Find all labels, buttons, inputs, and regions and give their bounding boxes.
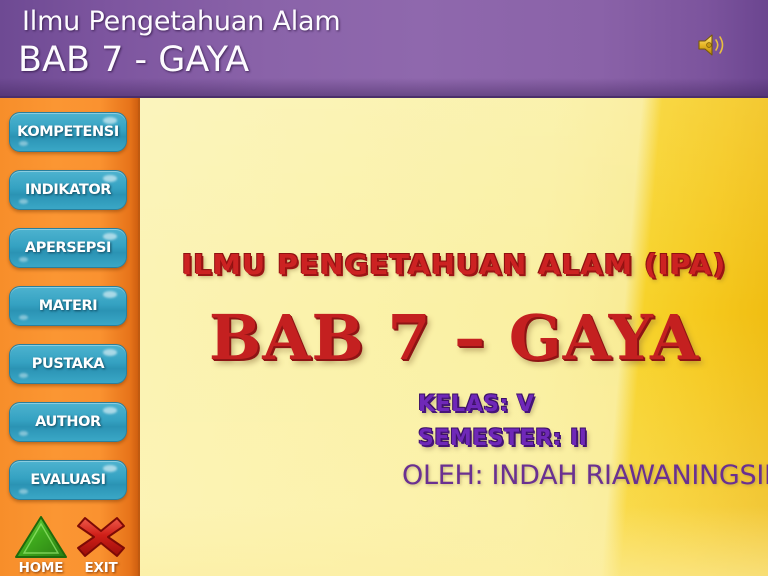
navigation-sidebar: KOMPETENSI INDIKATOR APERSEPSI MATERI PU… xyxy=(0,98,140,576)
sidebar-item-indikator[interactable]: INDIKATOR xyxy=(9,170,127,210)
sidebar-item-label: EVALUASI xyxy=(30,472,105,488)
header-subject-title: Ilmu Pengetahuan Alam xyxy=(22,6,340,37)
slide-body: ILMU PENGETAHUAN ALAM (IPA) BAB 7 – GAYA… xyxy=(140,98,768,576)
slide-kelas: KELAS: V xyxy=(418,392,534,417)
sidebar-item-evaluasi[interactable]: EVALUASI xyxy=(9,460,127,500)
exit-button[interactable]: EXIT xyxy=(72,512,130,576)
home-label: HOME xyxy=(12,560,70,576)
slide-chapter-title: BAB 7 – GAYA xyxy=(140,301,768,374)
sidebar-item-apersepsi[interactable]: APERSEPSI xyxy=(9,228,127,268)
sidebar-item-label: APERSEPSI xyxy=(25,240,111,256)
slide-course-title: ILMU PENGETAHUAN ALAM (IPA) xyxy=(140,248,768,281)
slide-header: Ilmu Pengetahuan Alam BAB 7 - GAYA xyxy=(0,0,768,98)
header-chapter-title: BAB 7 - GAYA xyxy=(18,40,249,80)
sidebar-item-label: INDIKATOR xyxy=(25,182,111,198)
green-triangle-icon xyxy=(12,512,70,560)
sidebar-item-kompetensi[interactable]: KOMPETENSI xyxy=(9,112,127,152)
slide-semester: SEMESTER: II xyxy=(418,426,587,451)
red-x-icon xyxy=(72,512,130,560)
presentation-slide: Ilmu Pengetahuan Alam BAB 7 - GAYA xyxy=(0,0,768,576)
sidebar-item-label: KOMPETENSI xyxy=(17,124,119,140)
sidebar-item-label: AUTHOR xyxy=(35,414,101,430)
slide-author: OLEH: INDAH RIAWANINGSIH xyxy=(402,460,768,491)
exit-label: EXIT xyxy=(72,560,130,576)
sidebar-item-label: PUSTAKA xyxy=(32,356,105,372)
home-button[interactable]: HOME xyxy=(12,512,70,576)
sidebar-item-label: MATERI xyxy=(39,298,97,314)
sidebar-item-materi[interactable]: MATERI xyxy=(9,286,127,326)
sidebar-item-pustaka[interactable]: PUSTAKA xyxy=(9,344,127,384)
sidebar-item-author[interactable]: AUTHOR xyxy=(9,402,127,442)
speaker-icon[interactable] xyxy=(695,30,731,60)
